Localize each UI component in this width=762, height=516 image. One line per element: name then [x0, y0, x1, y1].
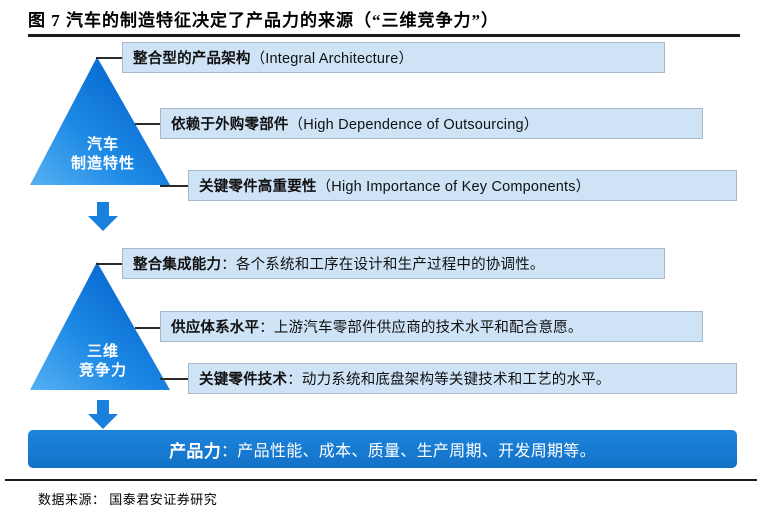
down-arrow-icon-1 — [86, 202, 120, 232]
triangle-three-dimensional-competitiveness: 三维 竞争力 — [28, 262, 178, 397]
info-box-a2-rest: （High Dependence of Outsourcing） — [289, 113, 539, 134]
header-divider — [28, 34, 740, 37]
connector-line-b1 — [96, 263, 123, 265]
connector-line-a1 — [96, 57, 123, 59]
info-box-b1-lead: 整合集成能力 — [133, 253, 221, 274]
page-title: 图 7 汽车的制造特征决定了产品力的来源（“三维竞争力”） — [28, 6, 740, 31]
info-box-a1-lead: 整合型的产品架构 — [133, 47, 251, 68]
info-box-supply-system-level: 供应体系水平：上游汽车零部件供应商的技术水平和配合意愿。 — [160, 311, 703, 342]
connector-line-b2 — [135, 327, 161, 329]
info-box-a3-rest: （High Importance of Key Components） — [317, 175, 591, 196]
footer-divider — [5, 479, 757, 481]
info-box-b1-rest: ：各个系统和工序在设计和生产过程中的协调性。 — [221, 253, 544, 274]
info-box-a3-lead: 关键零件高重要性 — [199, 175, 317, 196]
connector-line-a3 — [160, 185, 189, 187]
triangle-shape-icon — [28, 262, 178, 397]
result-bar-lead: 产品力 — [169, 437, 221, 462]
info-box-outsourcing-dependence: 依赖于外购零部件（High Dependence of Outsourcing） — [160, 108, 703, 139]
connector-line-b3 — [160, 378, 189, 380]
info-box-b3-rest: ：动力系统和底盘架构等关键技术和工艺的水平。 — [287, 368, 610, 389]
info-box-b3-lead: 关键零件技术 — [199, 368, 287, 389]
down-arrow-icon-2 — [86, 400, 120, 430]
info-box-integration-capability: 整合集成能力：各个系统和工序在设计和生产过程中的协调性。 — [122, 248, 665, 279]
info-box-a2-lead: 依赖于外购零部件 — [171, 113, 289, 134]
info-box-key-component-technology: 关键零件技术：动力系统和底盘架构等关键技术和工艺的水平。 — [188, 363, 737, 394]
connector-line-a2 — [135, 123, 161, 125]
info-box-integral-architecture: 整合型的产品架构（Integral Architecture） — [122, 42, 665, 73]
info-box-a1-rest: （Integral Architecture） — [251, 47, 414, 68]
result-bar-product-power: 产品力：产品性能、成本、质量、生产周期、开发周期等。 — [28, 430, 737, 468]
source-note: 数据来源： 国泰君安证券研究 — [38, 489, 217, 508]
info-box-b2-rest: ：上游汽车零部件供应商的技术水平和配合意愿。 — [259, 316, 582, 337]
info-box-b2-lead: 供应体系水平 — [171, 316, 259, 337]
result-bar-rest: ：产品性能、成本、质量、生产周期、开发周期等。 — [221, 437, 596, 461]
info-box-key-components-importance: 关键零件高重要性（High Importance of Key Componen… — [188, 170, 737, 201]
